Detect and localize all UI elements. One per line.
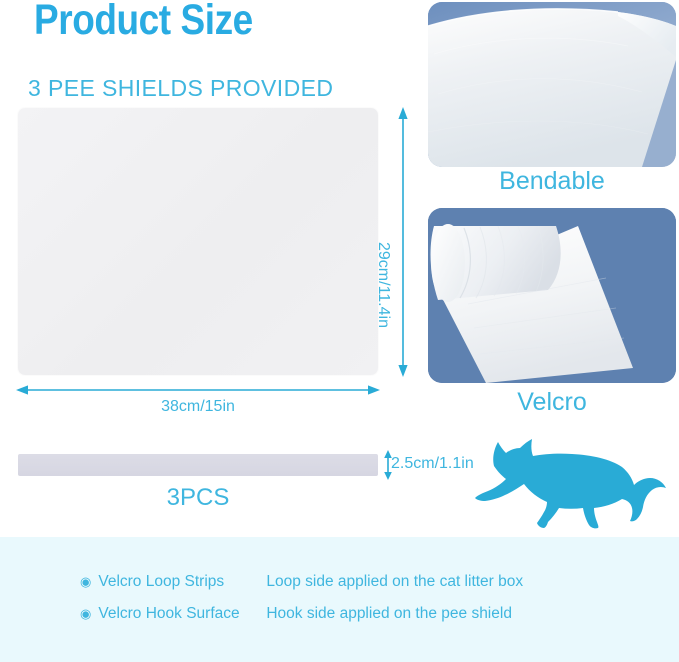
page-subtitle: 3 PEE SHIELDS PROVIDED xyxy=(28,75,333,102)
height-dimension-label: 29cm/11.4in xyxy=(374,242,392,328)
note-description: Hook side applied on the pee shield xyxy=(266,605,512,623)
note-description: Loop side applied on the cat litter box xyxy=(266,573,523,591)
bendable-panel-label: Bendable xyxy=(428,167,676,196)
notes-panel: ◉ Velcro Loop Strips Loop side applied o… xyxy=(0,537,679,662)
strip-count-label: 3PCS xyxy=(0,484,396,512)
bullet-icon: ◉ xyxy=(80,575,91,588)
velcro-panel-label: Velcro xyxy=(428,388,676,417)
bullet-icon: ◉ xyxy=(80,607,91,620)
velcro-roll-photo-icon xyxy=(428,208,676,383)
velcro-photo-panel xyxy=(428,208,676,383)
bendable-photo-panel xyxy=(428,2,676,167)
velcro-strip-illustration xyxy=(18,454,378,476)
width-dimension-label: 38cm/15in xyxy=(0,398,396,416)
note-item-hook-surface: ◉ Velcro Hook Surface Hook side applied … xyxy=(80,605,512,623)
height-dimension-arrow-icon xyxy=(396,107,410,377)
note-term: Velcro Loop Strips xyxy=(98,573,266,591)
page-title: Product Size xyxy=(34,0,253,45)
strip-thickness-label: 2.5cm/1.1in xyxy=(391,455,474,473)
bent-sheet-photo-icon xyxy=(428,2,676,167)
note-item-loop-strips: ◉ Velcro Loop Strips Loop side applied o… xyxy=(80,573,523,591)
note-term: Velcro Hook Surface xyxy=(98,605,266,623)
pee-shield-illustration xyxy=(18,108,378,375)
cat-silhouette-icon xyxy=(472,432,668,530)
width-dimension-arrow-icon xyxy=(16,383,380,397)
